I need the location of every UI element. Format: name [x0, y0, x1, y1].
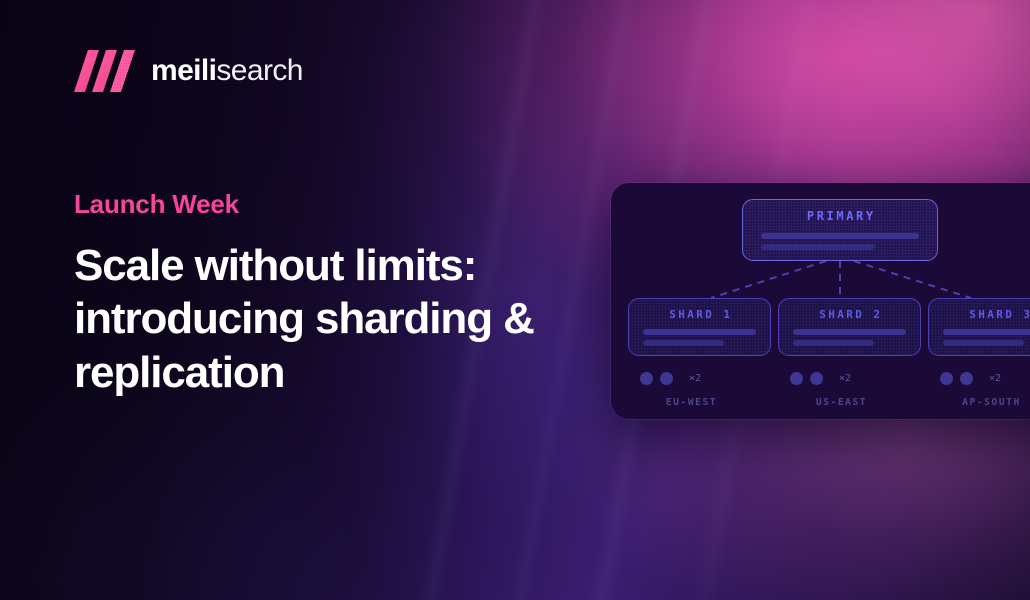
- region-label-shard-3: AP-SOUTH: [926, 398, 1030, 408]
- hero-copy: Launch Week Scale without limits: introd…: [74, 190, 614, 400]
- bar-partial: [793, 340, 874, 346]
- replica-group-shard-3: ×2 AP-SOUTH: [940, 372, 1030, 408]
- node-shard-3-title: SHARD 3: [967, 309, 1030, 320]
- replica-dot: [940, 372, 953, 385]
- node-primary-title: PRIMARY: [804, 210, 875, 222]
- node-shard-3[interactable]: SHARD 3: [928, 298, 1030, 356]
- bar-full: [761, 233, 919, 239]
- bar-full: [643, 329, 756, 335]
- node-shard-1[interactable]: SHARD 1: [628, 298, 771, 356]
- replica-dot: [790, 372, 803, 385]
- bar-partial: [761, 244, 875, 250]
- bar-full: [793, 329, 906, 335]
- wordmark-light: search: [216, 54, 302, 87]
- connector-primary-to-shard-3: [854, 261, 971, 298]
- wordmark-bold: meili: [151, 54, 216, 87]
- meilisearch-logo[interactable]: meilisearch: [74, 50, 303, 92]
- replica-group-shard-2: ×2 US-EAST: [790, 372, 907, 408]
- region-label-shard-1: EU-WEST: [626, 398, 757, 408]
- connector-primary-to-shard-1: [711, 261, 826, 298]
- meilisearch-logo-mark: [74, 50, 138, 92]
- page-title: Scale without limits: introducing shardi…: [74, 239, 614, 400]
- node-shard-3-bars: [929, 329, 1030, 346]
- replica-dot: [960, 372, 973, 385]
- bar-partial: [643, 340, 724, 346]
- hero-banner: meilisearch Launch Week Scale without li…: [0, 0, 1030, 600]
- replica-dots: ×2: [640, 372, 757, 385]
- replica-count-label: ×2: [989, 374, 1001, 384]
- replica-group-shard-1: ×2 EU-WEST: [640, 372, 757, 408]
- replica-dots: ×2: [940, 372, 1030, 385]
- replica-count-label: ×2: [689, 374, 701, 384]
- node-primary-bars: [743, 233, 937, 250]
- replica-dot: [810, 372, 823, 385]
- node-shard-2[interactable]: SHARD 2: [778, 298, 921, 356]
- node-shard-2-bars: [779, 329, 920, 346]
- region-label-shard-2: US-EAST: [776, 398, 907, 408]
- replica-dot: [640, 372, 653, 385]
- replica-dots: ×2: [790, 372, 907, 385]
- architecture-diagram-panel: PRIMARY SHARD 1 SHARD 2 SHARD 3: [611, 183, 1030, 419]
- node-shard-1-bars: [629, 329, 770, 346]
- bar-partial: [943, 340, 1024, 346]
- node-primary[interactable]: PRIMARY: [742, 199, 938, 261]
- bar-full: [943, 329, 1030, 335]
- meilisearch-wordmark: meilisearch: [151, 56, 303, 86]
- node-shard-2-title: SHARD 2: [817, 309, 883, 320]
- node-shard-1-title: SHARD 1: [667, 309, 733, 320]
- replica-dot: [660, 372, 673, 385]
- eyebrow-label: Launch Week: [74, 190, 614, 219]
- replica-count-label: ×2: [839, 374, 851, 384]
